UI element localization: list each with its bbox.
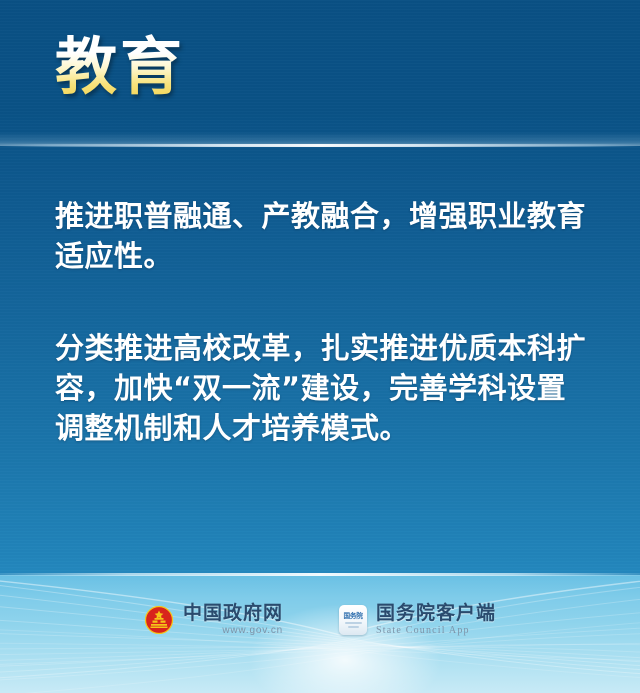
poster-content: 推进职普融通、产教融合，增强职业教育适应性。 分类推进高校改革，扎实推进优质本科… (55, 196, 595, 448)
state-council-app-subtitle: State Council App (376, 624, 496, 637)
header-divider (0, 144, 640, 147)
footer-logos: 中国政府网 www.gov.cn 国务院 国务院客户端 State Counci… (0, 603, 640, 637)
national-emblem-icon (144, 605, 174, 635)
gov-cn-logo[interactable]: 中国政府网 www.gov.cn (144, 603, 283, 637)
state-council-app-logo[interactable]: 国务院 国务院客户端 State Council App (339, 603, 496, 637)
state-council-app-text: 国务院客户端 State Council App (376, 603, 496, 637)
gov-cn-name: 中国政府网 (183, 603, 283, 623)
paragraph-1: 推进职普融通、产教融合，增强职业教育适应性。 (55, 196, 595, 276)
footer-divider (0, 573, 640, 576)
state-council-app-icon: 国务院 (339, 605, 367, 635)
poster-canvas: 教育 推进职普融通、产教融合，增强职业教育适应性。 分类推进高校改革，扎实推进优… (0, 0, 640, 693)
state-council-app-icon-label: 国务院 (343, 612, 362, 620)
paragraph-2: 分类推进高校改革，扎实推进优质本科扩容，加快“双一流”建设，完善学科设置调整机制… (55, 328, 595, 448)
app-icon-bar-short (348, 626, 359, 628)
poster-header: 教育 (0, 0, 640, 146)
poster-footer: 中国政府网 www.gov.cn 国务院 国务院客户端 State Counci… (0, 575, 640, 693)
state-council-app-name: 国务院客户端 (376, 603, 496, 623)
page-title: 教育 (55, 32, 185, 102)
gov-cn-url: www.gov.cn (183, 624, 283, 637)
gov-cn-logo-text: 中国政府网 www.gov.cn (183, 603, 283, 637)
app-icon-bar-long (345, 622, 362, 624)
